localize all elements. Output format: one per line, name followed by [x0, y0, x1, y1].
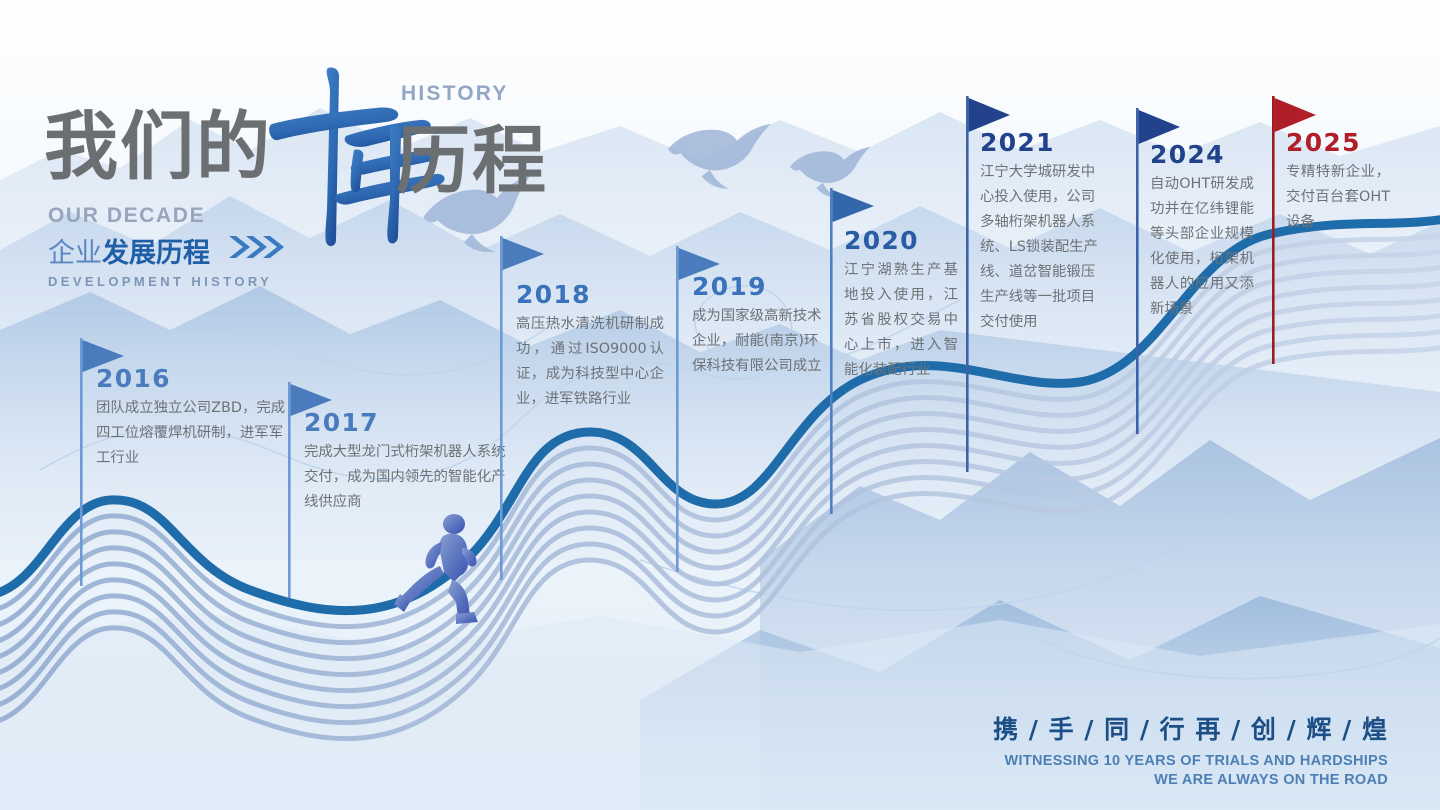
slogan-en-line2: WE ARE ALWAYS ON THE ROAD: [993, 772, 1388, 788]
timeline-item-2019[interactable]: 2019 成为国家级高新技术企业，耐能(南京)环保科技有限公司成立: [676, 246, 846, 576]
description-2017: 完成大型龙门式桁架机器人系统交付，成为国内领先的智能化产线供应商: [304, 440, 512, 515]
page-title-cn-left: 我们的: [44, 110, 272, 184]
subtitle-cn-bold: 发展历程: [102, 238, 210, 269]
description-2024: 自动OHT研发成功并在亿纬锂能等头部企业规模化使用，桁架机器人的应用又添新场景: [1150, 172, 1254, 322]
timeline-item-2018[interactable]: 2018 高压热水清洗机研制成功，通过ISO9000认证，成为科技型中心企业，进…: [500, 236, 680, 586]
year-label-2019: 2019: [692, 274, 767, 299]
our-decade-label: OUR DECADE: [48, 204, 205, 228]
timeline-item-2025[interactable]: 2025 专精特新企业，交付百台套OHT设备: [1272, 96, 1412, 366]
footer-slogan: 携 / 手 / 同 / 行 再 / 创 / 辉 / 煌 WITNESSING 1…: [993, 710, 1388, 788]
description-2020: 江宁湖熟生产基地投入使用，江苏省股权交易中心上市，进入智能化装配行业: [844, 258, 958, 383]
description-2025: 专精特新企业，交付百台套OHT设备: [1286, 160, 1390, 235]
description-2019: 成为国家级高新技术企业，耐能(南京)环保科技有限公司成立: [692, 304, 832, 379]
page-title-cn-right: 历程: [396, 124, 548, 198]
timeline-item-2017[interactable]: 2017 完成大型龙门式桁架机器人系统交付，成为国内领先的智能化产线供应商: [288, 382, 518, 602]
description-2018: 高压热水清洗机研制成功，通过ISO9000认证，成为科技型中心企业，进军铁路行业: [516, 312, 664, 412]
description-2016: 团队成立独立公司ZBD，完成四工位熔覆焊机研制，进军军工行业: [96, 396, 294, 471]
year-label-2021: 2021: [980, 130, 1055, 155]
year-label-2025: 2025: [1286, 130, 1361, 155]
year-label-2017: 2017: [304, 410, 379, 435]
year-label-2018: 2018: [516, 282, 591, 307]
timeline-item-2021[interactable]: 2021 江宁大学城研发中心投入使用，公司多轴桁架机器人系统、LS锁装配生产线、…: [966, 96, 1116, 476]
triple-chevron-right-icon: [227, 234, 285, 265]
timeline-item-2024[interactable]: 2024 自动OHT研发成功并在亿纬锂能等头部企业规模化使用，桁架机器人的应用又…: [1136, 108, 1276, 438]
year-label-2020: 2020: [844, 228, 919, 253]
history-label: HISTORY: [401, 82, 509, 106]
subtitle-cn: 企业发展历程: [48, 234, 285, 267]
infographic-canvas: 我们的: [0, 0, 1440, 810]
year-label-2024: 2024: [1150, 142, 1225, 167]
development-history-label: DEVELOPMENT HISTORY: [48, 274, 272, 289]
slogan-cn: 携 / 手 / 同 / 行 再 / 创 / 辉 / 煌: [993, 710, 1388, 746]
subtitle-cn-light: 企业: [48, 238, 102, 269]
timeline-item-2020[interactable]: 2020 江宁湖熟生产基地投入使用，江苏省股权交易中心上市，进入智能化装配行业: [830, 188, 980, 518]
slogan-en-line1: WITNESSING 10 YEARS OF TRIALS AND HARDSH…: [993, 753, 1388, 769]
timeline-item-2016[interactable]: 2016 团队成立独立公司ZBD，完成四工位熔覆焊机研制，进军军工行业: [80, 338, 310, 588]
description-2021: 江宁大学城研发中心投入使用，公司多轴桁架机器人系统、LS锁装配生产线、道岔智能锻…: [980, 160, 1100, 335]
year-label-2016: 2016: [96, 366, 171, 391]
